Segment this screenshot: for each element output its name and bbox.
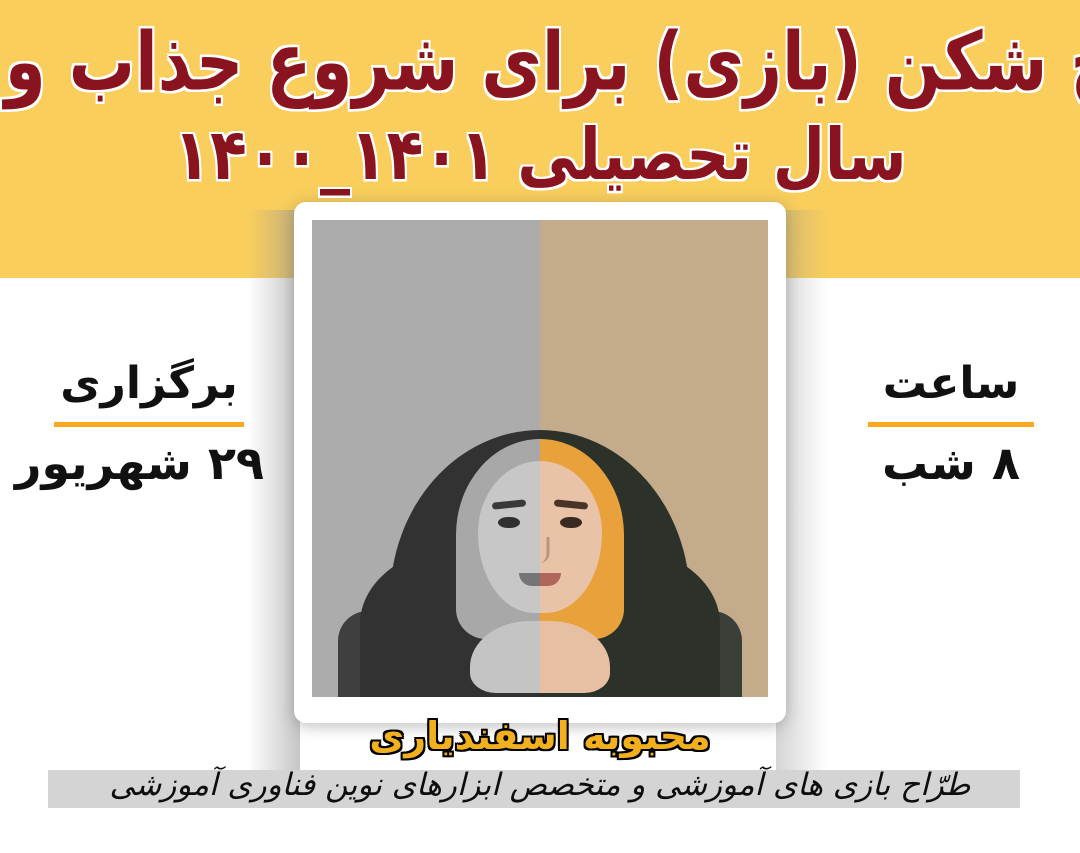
event-date-divider <box>54 422 244 427</box>
event-time-label: ساعت <box>836 360 1066 408</box>
event-date-value: ۲۹ شهریور <box>34 437 264 490</box>
poster-title: ۱۰ یخ شکن (بازی) برای شروع جذاب و موثر س… <box>0 0 1080 200</box>
nose <box>531 537 550 563</box>
face <box>478 461 602 613</box>
event-time-divider <box>868 422 1034 427</box>
portrait-figure <box>312 220 768 697</box>
presenter-name: محبوبه اسفندیاری <box>0 714 1080 758</box>
event-time-block: ساعت ۸ شب <box>836 360 1066 490</box>
mouth <box>519 573 561 586</box>
event-date-label: برگزاری <box>34 360 264 408</box>
presenter-description: طرّاح بازی های آموزشی و متخصص ابزارهای ن… <box>0 767 1080 803</box>
hands <box>470 621 610 693</box>
photo-frame <box>294 202 786 723</box>
title-line-primary: ۱۰ یخ شکن (بازی) برای شروع جذاب و موثر <box>0 20 1080 105</box>
eye-left <box>498 517 520 528</box>
eye-right <box>560 517 582 528</box>
eyebrow-left <box>492 499 527 510</box>
title-line-secondary: سال تحصیلی ۱۴۰۱_۱۴۰۰ <box>174 119 907 193</box>
portrait-photo <box>312 220 768 697</box>
event-date-block: برگزاری ۲۹ شهریور <box>34 360 264 490</box>
poster-root: ۱۰ یخ شکن (بازی) برای شروع جذاب و موثر س… <box>0 0 1080 853</box>
event-time-value: ۸ شب <box>836 437 1066 490</box>
eyebrow-right <box>554 499 589 510</box>
